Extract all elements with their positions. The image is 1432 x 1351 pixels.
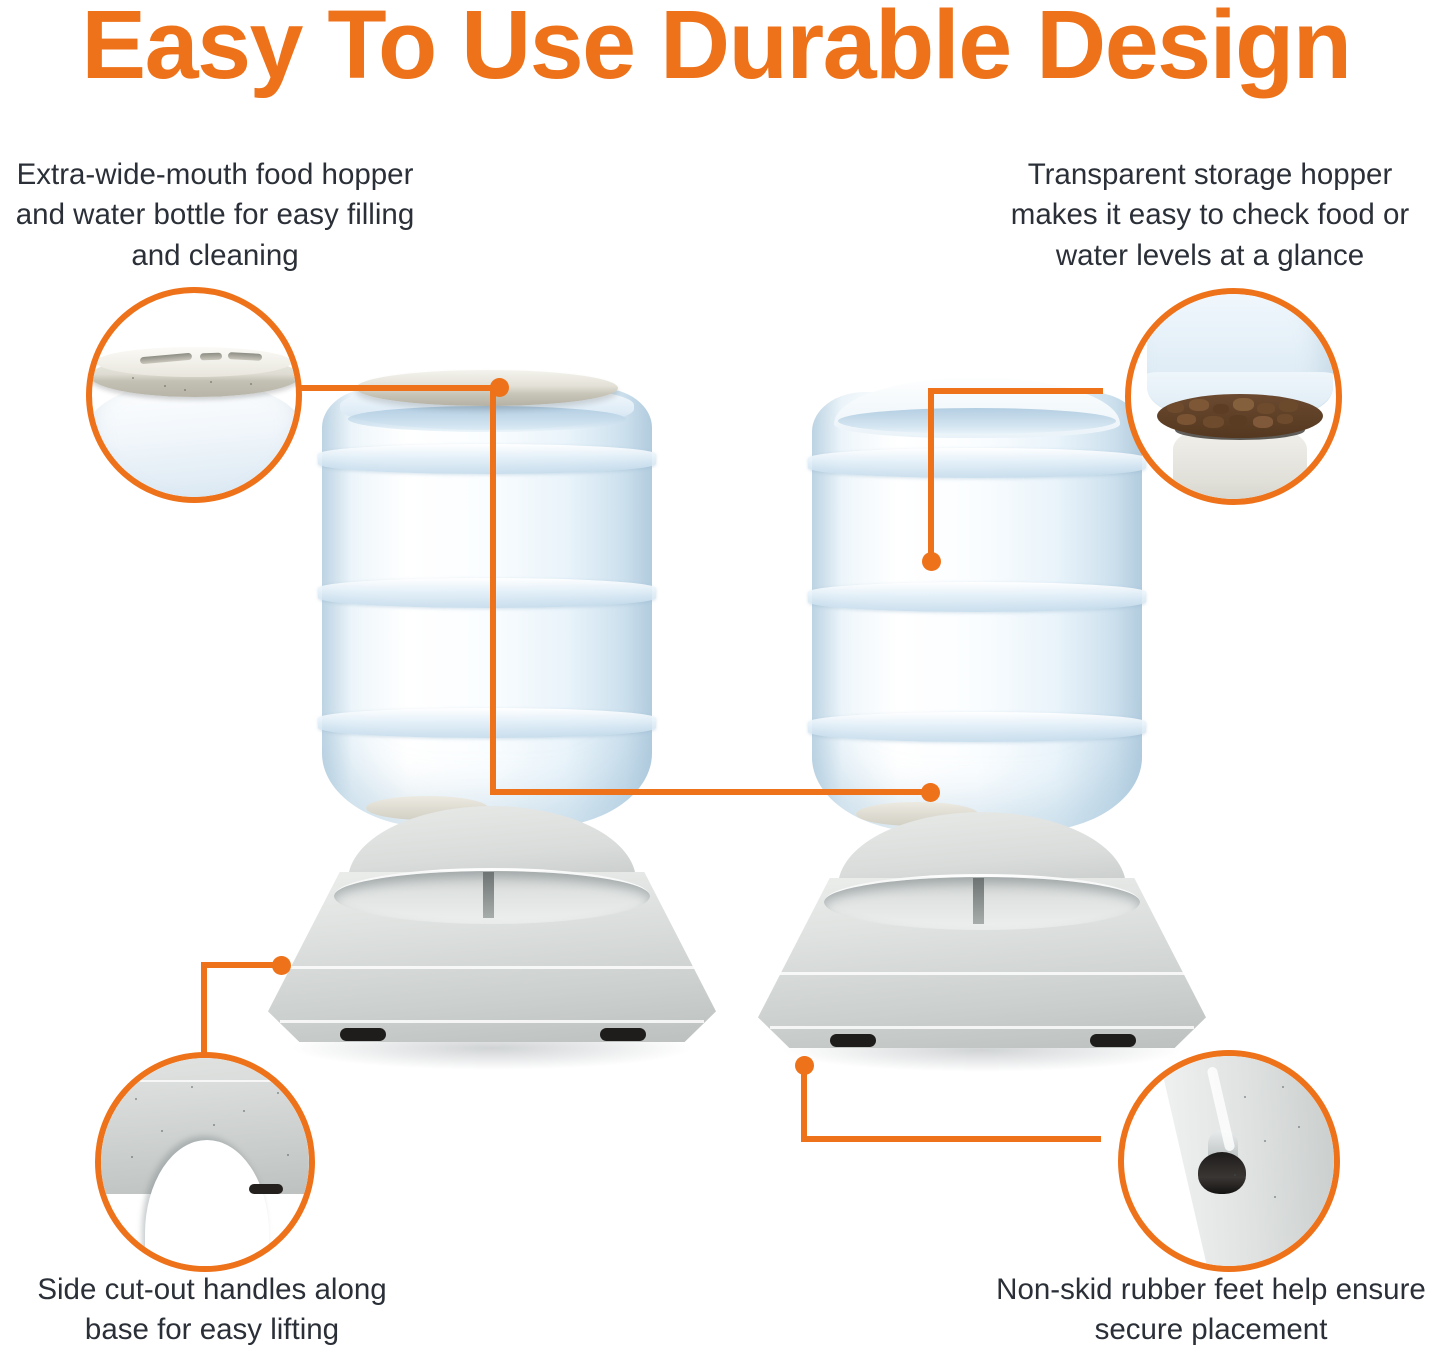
base-ring — [280, 1020, 704, 1023]
base-ring — [770, 1026, 1194, 1029]
kibble-piece — [1253, 416, 1273, 428]
inset-image-transparent-hopper — [1131, 294, 1336, 499]
speckle — [132, 377, 134, 379]
leader-dot-top-left — [490, 378, 509, 397]
lid-face — [96, 347, 292, 377]
lid-slot — [200, 353, 222, 361]
bottle-body-closeup — [92, 381, 296, 497]
leader-dot-bottom-left — [272, 956, 291, 975]
callout-text-top-right: Transparent storage hopper makes it easy… — [994, 155, 1426, 276]
inset-circle-top-right — [1125, 288, 1342, 505]
kibble-piece — [1167, 402, 1184, 413]
leader-dot-top-right — [922, 552, 941, 571]
page-title: Easy To Use Durable Design — [0, 0, 1432, 96]
rubber-foot — [830, 1034, 876, 1047]
inset-image-wide-mouth-lid — [92, 293, 296, 497]
speckle — [243, 1110, 245, 1112]
kibble-piece — [1229, 415, 1247, 426]
inset-image-side-cutout-handle — [101, 1058, 309, 1266]
leader-line-top-left-vertical — [490, 385, 496, 790]
inset-image-non-skid-rubber-foot — [1124, 1056, 1334, 1266]
speckle — [277, 1092, 279, 1094]
kibble-piece — [1277, 414, 1293, 424]
kibble-pile — [1157, 394, 1323, 438]
bottle-rib — [318, 578, 656, 608]
speckle — [250, 383, 252, 385]
bottle-rib — [808, 582, 1146, 612]
kibble-piece — [1203, 416, 1224, 428]
product-right-dispenser — [752, 378, 1212, 1066]
fill-level-line — [838, 408, 1116, 434]
speckle — [210, 381, 212, 383]
base-edge-closeup — [1155, 1056, 1334, 1266]
speckle — [161, 1130, 163, 1132]
speckle — [191, 1086, 193, 1088]
leader-line-bottom-right-horizontal — [801, 1136, 1101, 1142]
inset-circle-bottom-right — [1118, 1050, 1340, 1272]
water-bottle-left — [322, 388, 652, 828]
kibble-piece — [1213, 404, 1229, 414]
speckle — [131, 1156, 133, 1158]
leader-line-top-right-horizontal — [928, 388, 1103, 394]
bottle-rib — [318, 708, 656, 738]
rubber-foot — [1198, 1152, 1246, 1194]
rubber-foot — [1090, 1034, 1136, 1047]
leader-dot-center — [921, 783, 940, 802]
speckle — [1244, 1096, 1246, 1098]
callout-text-bottom-right: Non-skid rubber feet help ensure secure … — [996, 1270, 1426, 1351]
speckle — [1234, 1174, 1236, 1176]
speckle — [135, 1098, 137, 1100]
speckle — [164, 385, 166, 387]
bottle-rib — [808, 712, 1146, 742]
inset-circle-top-left — [86, 287, 302, 503]
leader-line-top-right-vertical — [928, 388, 934, 560]
bottle-rib — [808, 448, 1146, 478]
leader-dot-bottom-right — [795, 1056, 814, 1075]
speckle — [213, 1124, 215, 1126]
kibble-piece — [1177, 414, 1196, 425]
kibble-piece — [1279, 400, 1298, 412]
leader-line-center-horizontal — [490, 789, 932, 795]
speckle — [1282, 1086, 1284, 1088]
rubber-foot — [340, 1028, 386, 1041]
kibble-piece — [1257, 403, 1275, 414]
speckle — [287, 1154, 289, 1156]
trough-divider — [483, 872, 494, 918]
base-groove — [101, 1080, 309, 1082]
speckle — [1264, 1140, 1266, 1142]
trough-divider — [973, 878, 984, 924]
rubber-foot — [600, 1028, 646, 1041]
rubber-foot-edge — [249, 1184, 283, 1194]
speckle — [1298, 1126, 1300, 1128]
base-ring — [776, 972, 1188, 975]
callout-text-top-left: Extra-wide-mouth food hopper and water b… — [6, 155, 424, 276]
base-bowl-left — [262, 806, 722, 1052]
speckle — [184, 389, 186, 391]
base-bowl-right — [752, 812, 1212, 1058]
kibble-piece — [1233, 398, 1254, 411]
base-ring — [286, 966, 698, 969]
inset-circle-bottom-left — [95, 1052, 315, 1272]
water-level-line — [348, 406, 626, 432]
callout-text-bottom-left: Side cut-out handles along base for easy… — [2, 1270, 422, 1351]
food-hopper-right — [812, 392, 1142, 832]
bottle-rib — [318, 444, 656, 474]
leader-line-top-left-horizontal — [296, 385, 496, 391]
speckle — [1274, 1196, 1276, 1198]
kibble-piece — [1189, 399, 1209, 411]
